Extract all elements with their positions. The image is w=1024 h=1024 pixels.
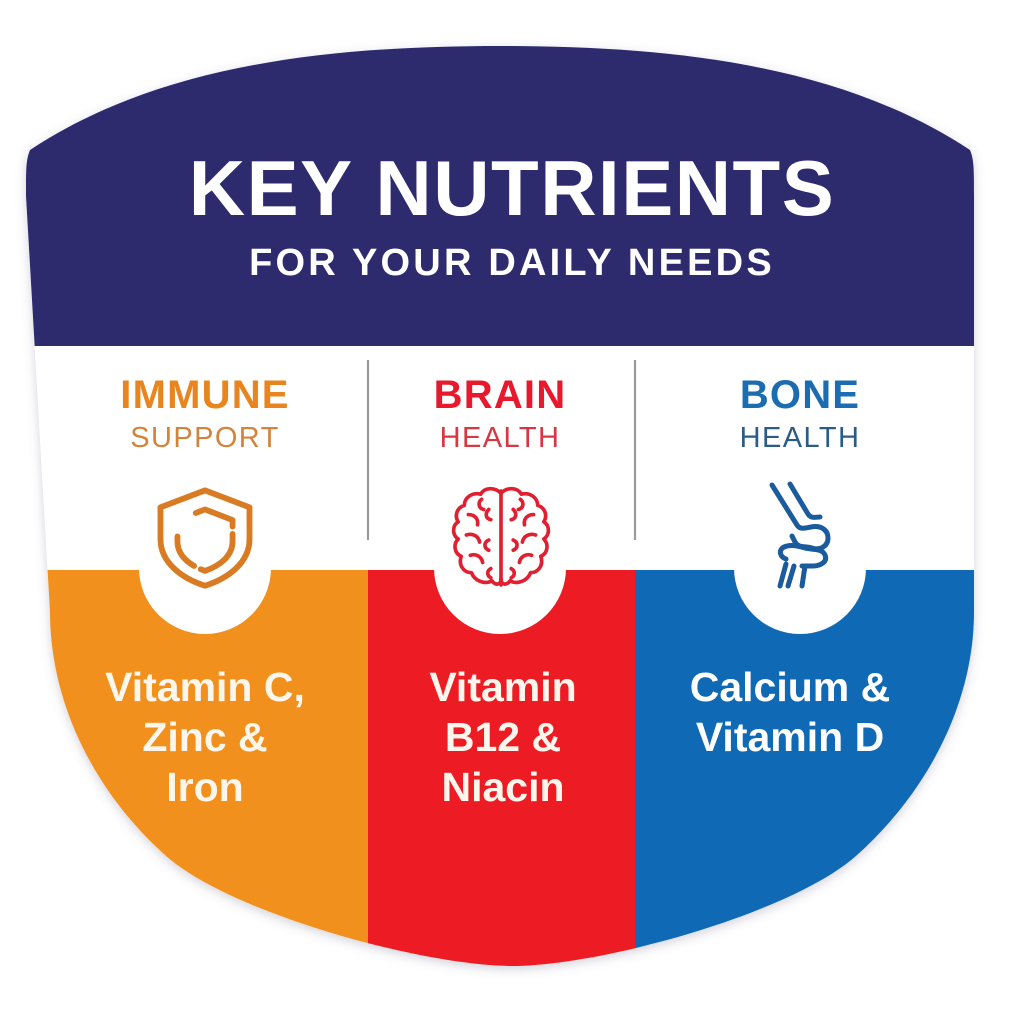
shield-graphic [0,0,1024,1024]
band-bone [635,570,1024,1024]
band-brain [368,570,635,1024]
header-banner [0,0,1024,346]
infographic-canvas: KEY NUTRIENTS FOR YOUR DAILY NEEDS IMMUN… [0,0,1024,1024]
middle-white-section [0,346,1024,572]
color-bands [0,570,1024,1024]
band-immune [0,570,368,1024]
